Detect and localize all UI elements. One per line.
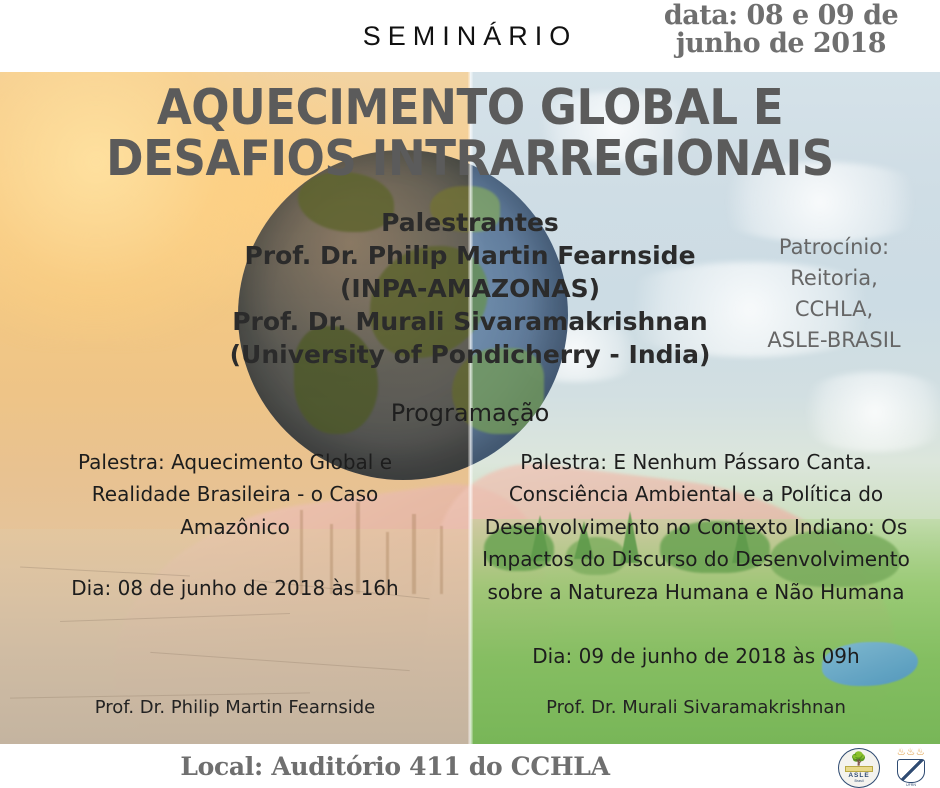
venue-text: Local: Auditório 411 do CCHLA [0, 752, 790, 781]
poster-title: AQUECIMENTO GLOBAL E DESAFIOS INTRARREGI… [38, 82, 903, 185]
footer-logos: 🌳 ASLE Brasil ♨♨♨ UFRN [838, 748, 928, 788]
ufrn-logo-icon: ♨♨♨ UFRN [894, 748, 928, 788]
sponsor-item-3: ASLE-BRASIL [730, 325, 938, 356]
speakers-heading: Palestrantes [170, 206, 770, 239]
speakers-block: Palestrantes Prof. Dr. Philip Martin Fea… [170, 206, 770, 371]
program-left-speaker: Prof. Dr. Philip Martin Fearnside [40, 697, 430, 718]
poster-title-line1: AQUECIMENTO GLOBAL E [38, 82, 903, 133]
speaker-1-name: Prof. Dr. Philip Martin Fearnside [170, 239, 770, 272]
speaker-2-name: Prof. Dr. Murali Sivaramakrishnan [170, 305, 770, 338]
sponsor-label: Patrocínio: [730, 232, 938, 263]
event-date: data: 08 e 09 de junho de 2018 [650, 2, 912, 58]
program-left-talk: Palestra: Aquecimento Global e Realidade… [40, 446, 430, 543]
program-right-day: Dia: 09 de junho de 2018 às 09h [472, 644, 920, 668]
seminar-poster: SEMINÁRIO data: 08 e 09 de junho de 2018… [0, 0, 940, 788]
asle-logo-sub: Brasil [855, 780, 864, 784]
program-heading: Programação [0, 399, 940, 427]
ufrn-shield-icon [897, 759, 925, 783]
tree-icon: 🌳 [851, 752, 867, 765]
speaker-2-affiliation: (University of Pondicherry - India) [170, 338, 770, 371]
poster-title-line2: DESAFIOS INTRARREGIONAIS [38, 133, 903, 184]
ufrn-logo-caption: UFRN [906, 784, 916, 788]
asle-logo-icon: 🌳 ASLE Brasil [838, 748, 880, 788]
torch-flames-icon: ♨♨♨ [897, 748, 925, 758]
program-right-speaker: Prof. Dr. Murali Sivaramakrishnan [472, 697, 920, 718]
event-date-line1: data: 08 e 09 de [650, 2, 912, 30]
sponsor-item-1: Reitoria, [730, 263, 938, 294]
program-right-talk: Palestra: E Nenhum Pássaro Canta. Consci… [472, 446, 920, 608]
program-left-day: Dia: 08 de junho de 2018 às 16h [40, 576, 430, 600]
sponsor-item-2: CCHLA, [730, 294, 938, 325]
speaker-1-affiliation: (INPA-AMAZONAS) [170, 272, 770, 305]
event-date-line2: junho de 2018 [650, 30, 912, 58]
sponsor-block: Patrocínio: Reitoria, CCHLA, ASLE-BRASIL [730, 232, 938, 356]
